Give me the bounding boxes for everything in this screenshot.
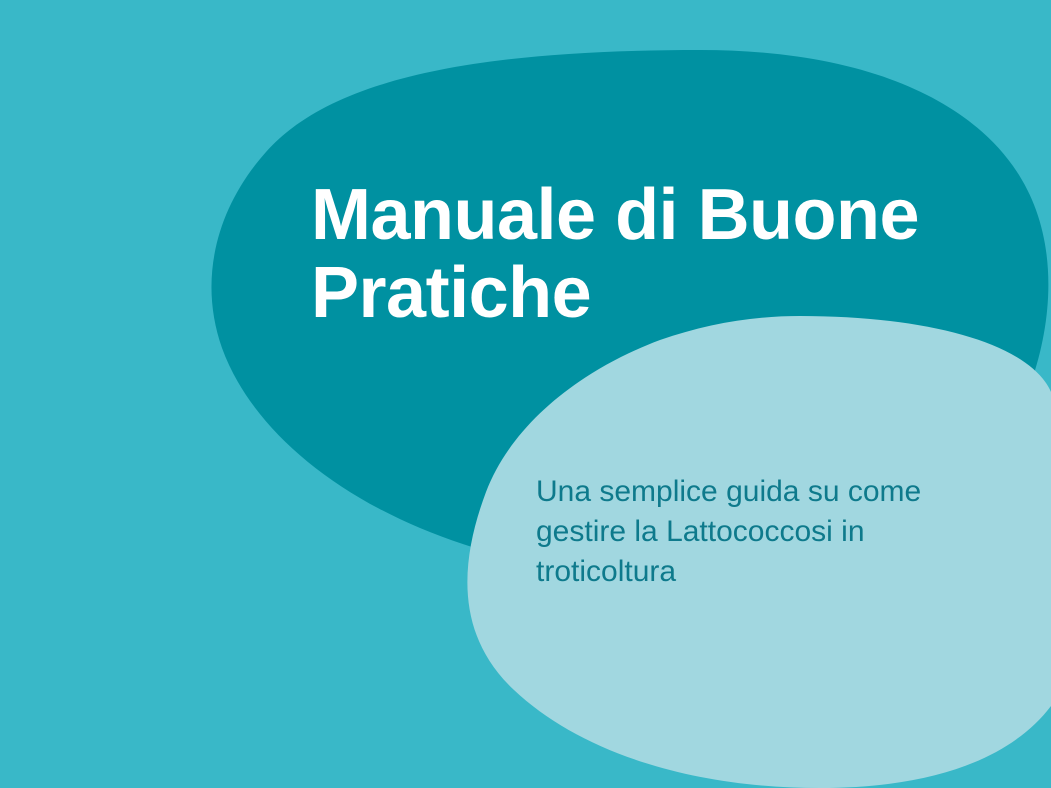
cover-page: Manuale di Buone Pratiche Una semplice g… (0, 0, 1051, 788)
cover-text-layer: Manuale di Buone Pratiche Una semplice g… (0, 0, 1051, 788)
page-subtitle: Una semplice guida su come gestire la La… (536, 472, 1006, 592)
page-title: Manuale di Buone Pratiche (311, 176, 1011, 332)
